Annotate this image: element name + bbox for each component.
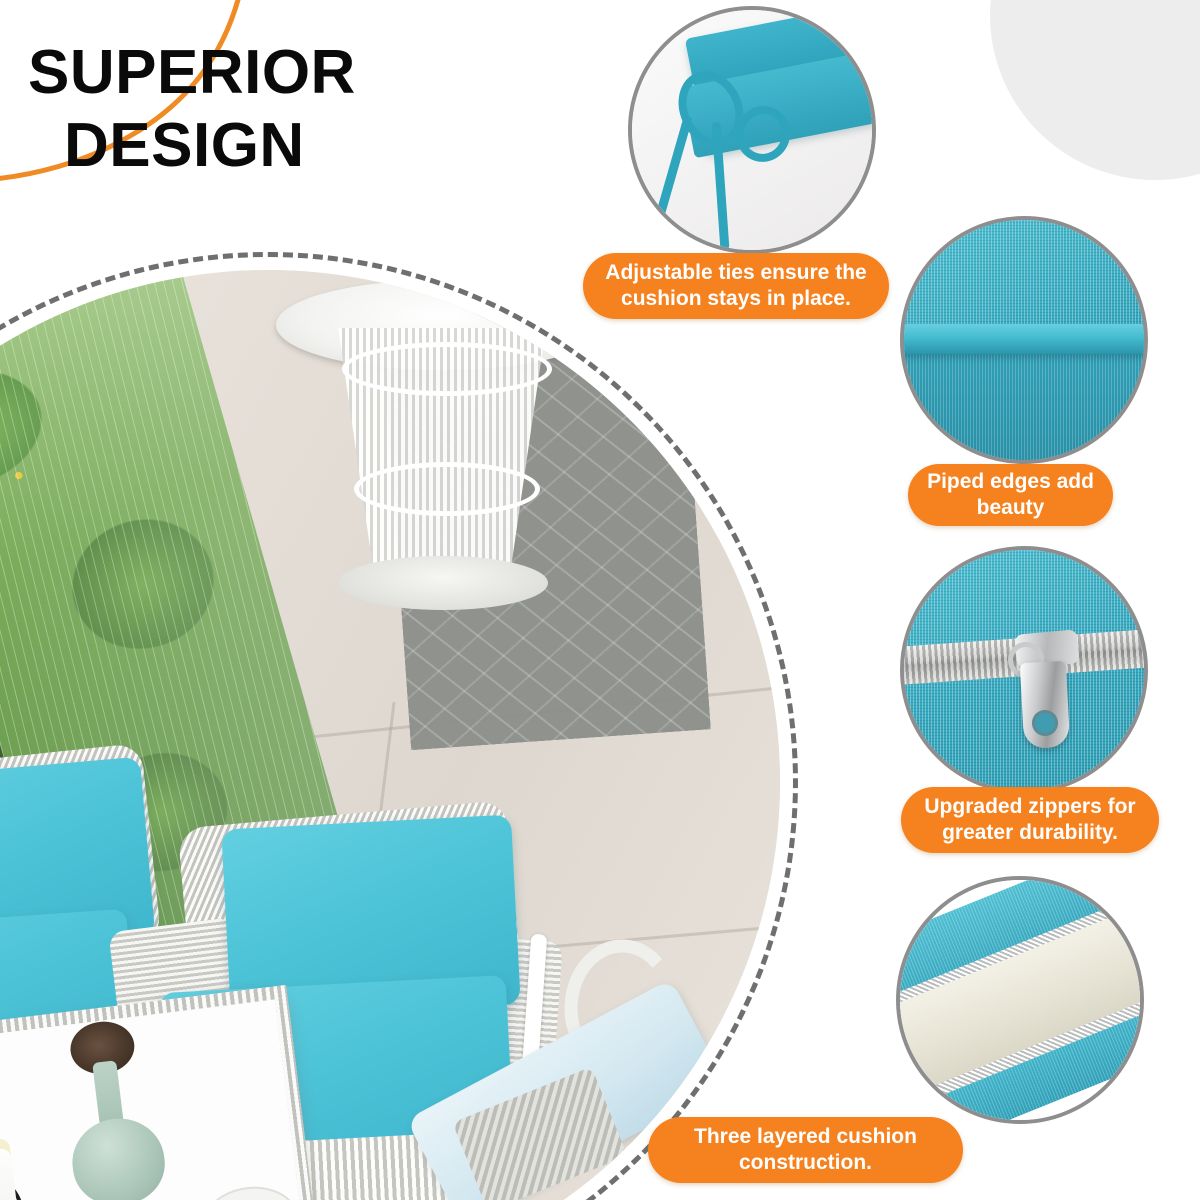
fabric-lower-panel [904, 350, 1144, 460]
coffee-table [0, 985, 323, 1200]
zipper-pull-hole [1032, 710, 1058, 736]
main-lifestyle-photo [0, 252, 798, 1200]
callout-zipper: Upgraded zippers for greater durability. [901, 787, 1159, 853]
patio-scene [0, 270, 780, 1200]
corner-blob-decoration [990, 0, 1200, 180]
detail-circle-zipper [900, 546, 1148, 794]
title-line-2: DESIGN [64, 109, 568, 182]
detail-circle-piping [900, 216, 1148, 464]
rope-side-table [276, 280, 606, 610]
callout-piping: Piped edges add beauty [908, 464, 1113, 526]
side-table-ring [354, 462, 540, 516]
detail-circle-layers [896, 876, 1144, 1124]
photo-clip-circle [0, 270, 780, 1200]
piped-edge [900, 324, 1148, 354]
page-title: SUPERIOR DESIGN [28, 36, 568, 182]
side-table-ring [342, 342, 552, 396]
infographic-canvas: SUPERIOR DESIGN [0, 0, 1200, 1200]
side-table-base [338, 556, 548, 610]
title-line-1: SUPERIOR [28, 38, 356, 107]
detail-circle-ties [628, 6, 876, 254]
callout-layers: Three layered cushion construction. [648, 1117, 963, 1183]
callout-ties: Adjustable ties ensure the cushion stays… [583, 253, 889, 319]
